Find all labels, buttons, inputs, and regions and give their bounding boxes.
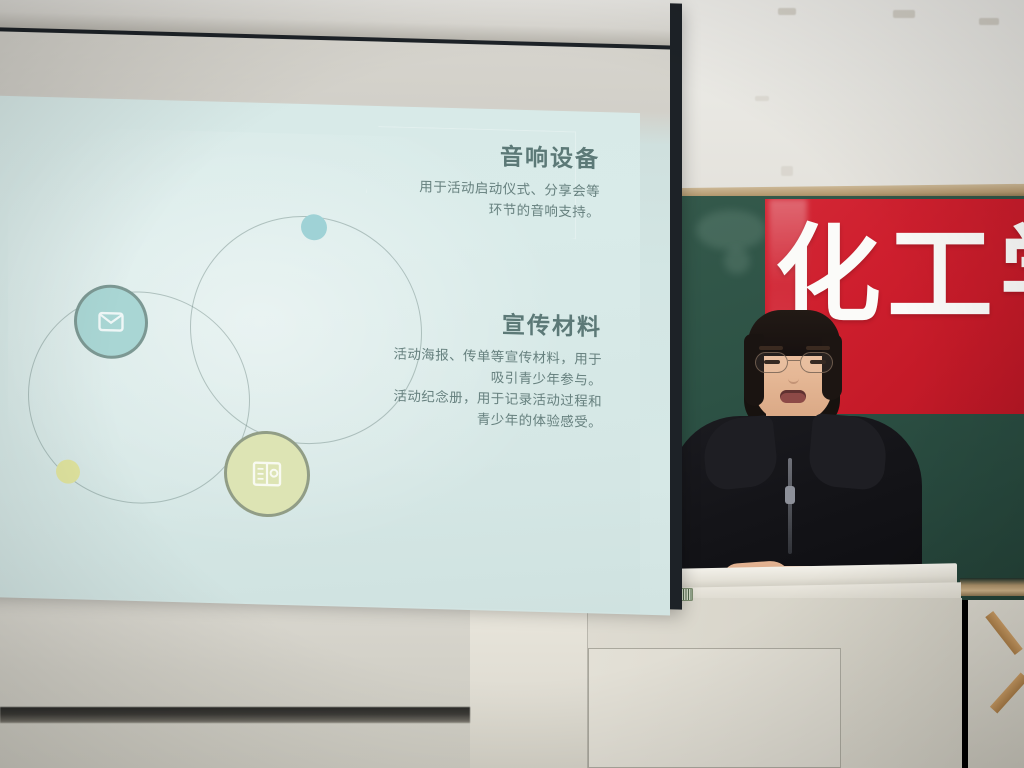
wall-scuff <box>755 96 769 101</box>
lower-wall <box>0 596 470 768</box>
slide-clipped-text-upper: 与青少年， 。 <box>0 276 2 320</box>
zipper-pull <box>785 486 795 504</box>
envelope-icon <box>98 311 124 332</box>
slide-heading-audio: 音响设备 <box>419 135 600 174</box>
wall-scuff <box>781 166 793 176</box>
slide-dot-olive <box>56 459 80 484</box>
slide-clipped-line-1: 与青少年， <box>0 276 2 299</box>
eyebrow-left <box>759 346 783 350</box>
chalk-smudge <box>724 248 750 274</box>
jacket-zipper <box>788 458 792 554</box>
slide-content: 音响设备 用于活动启动仪式、分享会等 环节的音响支持。 宣传材料 活动海报、传单… <box>0 95 640 613</box>
wall-tape-mark <box>778 8 796 15</box>
chalkboard-ledge <box>960 578 1024 596</box>
slide-block-audio: 音响设备 用于活动启动仪式、分享会等 环节的音响支持。 <box>419 135 600 224</box>
nose <box>788 370 799 384</box>
chair-rail <box>985 611 1022 655</box>
open-book-icon <box>252 461 282 488</box>
glasses-bridge <box>788 360 800 361</box>
slide-node-audio <box>74 284 148 360</box>
presenter <box>660 290 930 600</box>
podium-left-face <box>462 598 588 768</box>
slide-desc-audio-line-2: 环节的音响支持。 <box>419 198 600 224</box>
projected-slide: 音响设备 用于活动启动仪式、分享会等 环节的音响支持。 宣传材料 活动海报、传单… <box>0 95 640 613</box>
chalk-ledge <box>0 707 470 723</box>
podium-front-panel <box>588 648 841 768</box>
wall-tape-mark <box>893 10 915 18</box>
wall-tape-mark <box>979 18 999 25</box>
eyebrow-right <box>806 346 830 350</box>
slide-clipped-line-2: 。 <box>0 297 2 320</box>
slide-dot-teal <box>301 214 327 241</box>
back-wall-right <box>663 0 1024 196</box>
glasses-lens-right <box>800 352 833 373</box>
slide-heading-materials: 宣传材料 <box>394 302 603 342</box>
chair-rail <box>990 673 1024 714</box>
mouth <box>780 390 806 403</box>
slide-desc-materials-line-4: 青少年的体验感受。 <box>394 407 603 434</box>
wooden-chair <box>968 600 1024 768</box>
chalk-smudge <box>696 210 766 250</box>
glasses-lens-left <box>755 352 788 373</box>
classroom-photo: 化工学 <box>0 0 1024 768</box>
slide-block-materials: 宣传材料 活动海报、传单等宣传材料，用于 吸引青少年参与。 活动纪念册，用于记录… <box>394 302 603 434</box>
